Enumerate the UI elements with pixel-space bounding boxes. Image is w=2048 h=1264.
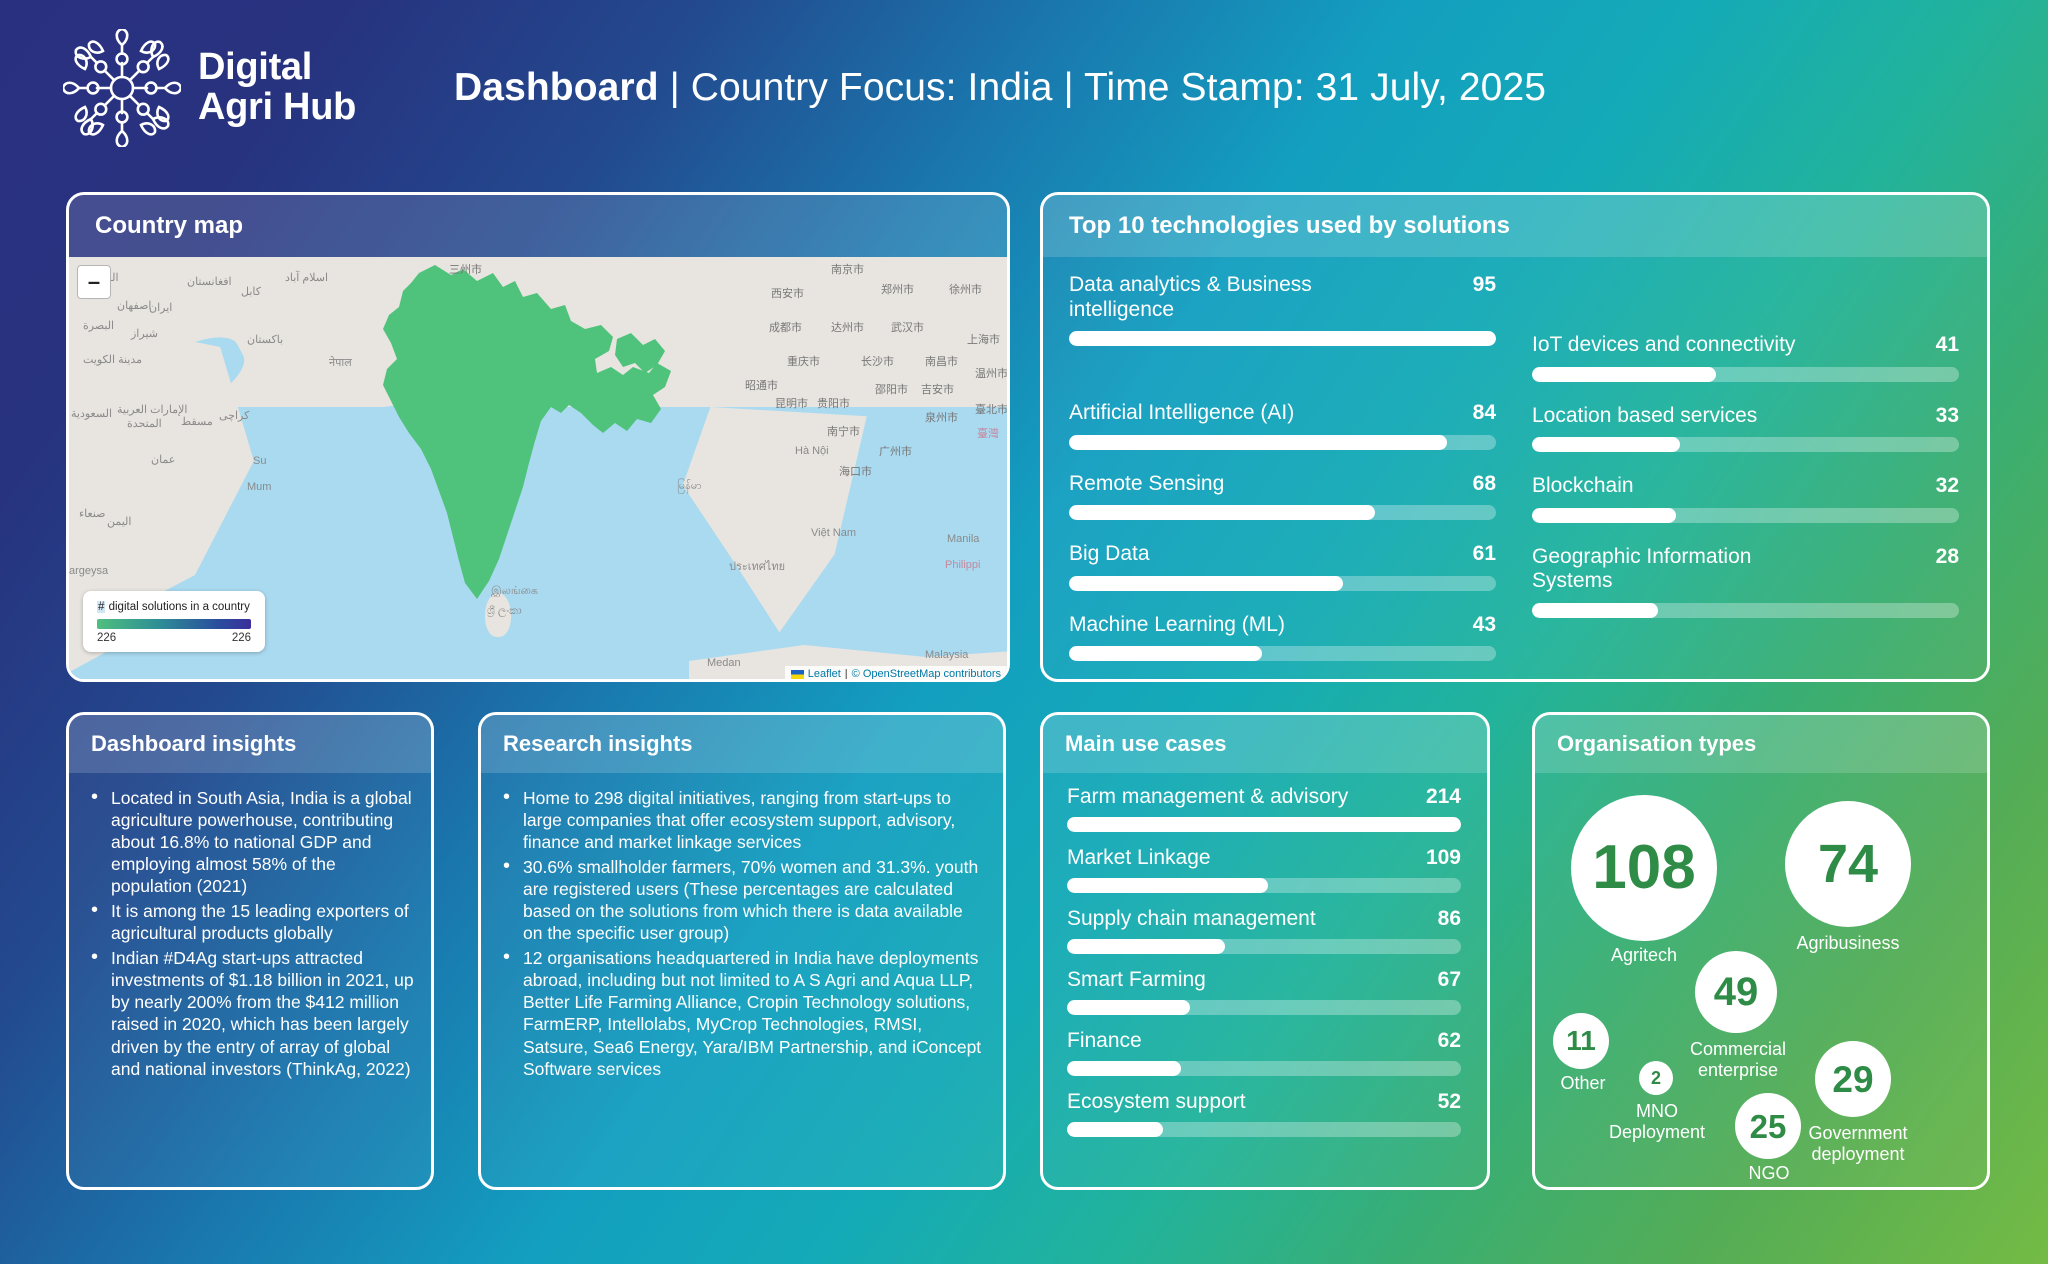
attribution-separator: | [845,668,848,680]
use-case-bar-fill [1067,817,1461,832]
technologies-header: Top 10 technologies used by solutions [1043,195,1987,257]
insight-bullet: Located in South Asia, India is a global… [87,787,415,897]
research-insights-list: Home to 298 digital initiatives, ranging… [499,787,987,1080]
organisation-type-label: Government deployment [1785,1123,1931,1164]
use-case-row-header: Supply chain management86 [1067,907,1461,931]
technology-row-header: Machine Learning (ML)43 [1069,613,1496,638]
ukraine-flag-icon [791,670,804,679]
research-insights-body: Home to 298 digital initiatives, ranging… [481,773,1003,1187]
use-case-row: Farm management & advisory214 [1067,785,1461,832]
technology-bar-fill [1532,603,1658,618]
technology-label: Machine Learning (ML) [1069,613,1285,638]
technology-label: Blockchain [1532,474,1634,499]
technology-bar-track [1532,603,1959,618]
use-cases-body: Farm management & advisory214Market Link… [1043,773,1487,1187]
use-case-label: Supply chain management [1067,907,1316,931]
use-case-row-header: Ecosystem support52 [1067,1090,1461,1114]
use-case-row-header: Farm management & advisory214 [1067,785,1461,809]
technology-bar-track [1069,646,1496,661]
use-case-row-header: Smart Farming67 [1067,968,1461,992]
use-case-value: 109 [1426,846,1461,870]
technology-label: Data analytics & Business intelligence [1069,273,1369,322]
map-zoom-out-button[interactable]: – [77,265,111,299]
organisation-types-panel: Organisation types 108Agritech74Agribusi… [1532,712,1990,1190]
technologies-column-left: Data analytics & Business intelligence95… [1069,273,1496,682]
use-case-label: Farm management & advisory [1067,785,1348,809]
organisation-type-bubble[interactable]: 29 [1815,1041,1891,1117]
technology-bar-fill [1532,437,1680,452]
technology-bar-track [1069,576,1496,591]
organisation-type-bubble[interactable]: 25 [1735,1093,1801,1159]
organisation-type-label: Agritech [1571,945,1717,966]
page-header: Digital Agri Hub Dashboard | Country Foc… [0,0,2048,176]
dashboard-insights-list: Located in South Asia, India is a global… [87,787,415,1080]
technology-value: 41 [1936,333,1959,358]
insight-bullet: Home to 298 digital initiatives, ranging… [499,787,987,853]
technology-bar-track [1532,437,1959,452]
map-attribution: Leaflet | © OpenStreetMap contributors [785,666,1007,682]
technology-value: 61 [1473,542,1496,567]
technology-value: 43 [1473,613,1496,638]
organisation-type-label: Agribusiness [1763,933,1933,954]
openstreetmap-link[interactable]: © OpenStreetMap contributors [852,668,1001,680]
technology-value: 28 [1936,545,1959,570]
organisation-type-bubble[interactable]: 74 [1785,801,1911,927]
technology-row: Geographic Information Systems28 [1532,545,1959,618]
technology-bar-fill [1069,576,1343,591]
india-highlight-shape[interactable] [365,263,725,611]
technology-row: Location based services33 [1532,404,1959,453]
technologies-panel: Top 10 technologies used by solutions Da… [1040,192,1990,682]
organisation-type-label: MNO Deployment [1601,1101,1713,1142]
technology-bar-fill [1532,508,1676,523]
technology-row-header: Data analytics & Business intelligence95 [1069,273,1496,322]
map-legend: # digital solutions in a country 226 226 [83,591,265,652]
technology-bar-track [1069,505,1496,520]
digital-agri-hub-logo-icon [62,28,182,148]
organisation-types-title: Organisation types [1557,731,1756,757]
map-legend-title: # digital solutions in a country [97,601,251,613]
dashboard-insights-title: Dashboard insights [91,731,296,757]
country-map-header: Country map [69,195,1007,257]
technology-row: Machine Learning (ML)43 [1069,613,1496,662]
organisation-type-label: Other [1545,1073,1621,1094]
technology-row: IoT devices and connectivity41 [1532,333,1959,382]
technology-row-header: IoT devices and connectivity41 [1532,333,1959,358]
research-insights-header: Research insights [481,715,1003,773]
organisation-type-bubble[interactable]: 108 [1571,795,1717,941]
technology-row: Remote Sensing68 [1069,472,1496,521]
technology-label: Remote Sensing [1069,472,1224,497]
use-case-row: Smart Farming67 [1067,968,1461,1015]
use-case-row: Supply chain management86 [1067,907,1461,954]
technologies-body: Data analytics & Business intelligence95… [1043,257,1987,682]
use-case-bar-track [1067,817,1461,832]
leaflet-link[interactable]: Leaflet [808,668,841,680]
technology-value: 68 [1473,472,1496,497]
technology-row: Big Data61 [1069,542,1496,591]
technology-row-header: Geographic Information Systems28 [1532,545,1959,594]
technology-row: Data analytics & Business intelligence95 [1069,273,1496,379]
technologies-column-spacer [1532,273,1959,333]
use-case-label: Finance [1067,1029,1142,1053]
technology-bar-fill [1532,367,1716,382]
map-legend-title-text: digital solutions in a country [105,601,249,613]
insight-bullet: 30.6% smallholder farmers, 70% women and… [499,856,987,944]
technology-bar-track [1532,367,1959,382]
insight-bullet: Indian #D4Ag start-ups attracted investm… [87,947,415,1079]
use-case-value: 86 [1438,907,1461,931]
dashboard-insights-body: Located in South Asia, India is a global… [69,773,431,1187]
technology-label: Location based services [1532,404,1757,429]
page-title: Dashboard | Country Focus: India | Time … [454,66,1546,110]
technologies-title: Top 10 technologies used by solutions [1069,212,1510,240]
use-case-value: 52 [1438,1090,1461,1114]
use-cases-panel: Main use cases Farm management & advisor… [1040,712,1490,1190]
use-case-bar-fill [1067,1000,1190,1015]
use-cases-title: Main use cases [1065,731,1226,757]
map-legend-gradient-bar [97,619,251,629]
technology-bar-fill [1069,331,1496,346]
use-case-label: Ecosystem support [1067,1090,1246,1114]
technologies-column-right: IoT devices and connectivity41Location b… [1532,273,1959,682]
technology-value: 95 [1473,273,1496,298]
use-case-value: 62 [1438,1029,1461,1053]
use-case-bar-fill [1067,939,1225,954]
technology-bar-fill [1069,646,1262,661]
use-case-row-header: Finance62 [1067,1029,1461,1053]
technology-bar-track [1069,435,1496,450]
technology-label: Geographic Information Systems [1532,545,1832,594]
map-legend-scale: 226 226 [97,632,251,644]
page-title-main: Dashboard [454,66,659,109]
country-map-body[interactable]: السليل افغانستان كابل اسلام آباد اصفهان … [69,257,1007,682]
use-case-bar-track [1067,878,1461,893]
technology-row: Blockchain32 [1532,474,1959,523]
technology-label: Big Data [1069,542,1150,567]
organisation-type-bubble[interactable]: 49 [1695,951,1777,1033]
use-case-bar-fill [1067,1061,1181,1076]
use-case-label: Smart Farming [1067,968,1206,992]
map-legend-min: 226 [97,632,116,644]
map-canvas[interactable]: السليل افغانستان كابل اسلام آباد اصفهان … [69,257,1007,682]
technology-row-header: Big Data61 [1069,542,1496,567]
organisation-type-label: NGO [1717,1163,1821,1184]
technology-value: 84 [1473,401,1496,426]
insight-bullet: It is among the 15 leading exporters of … [87,900,415,944]
research-insights-title: Research insights [503,731,693,757]
use-case-bar-track [1067,939,1461,954]
use-case-label: Market Linkage [1067,846,1211,870]
use-case-row-header: Market Linkage109 [1067,846,1461,870]
use-case-value: 214 [1426,785,1461,809]
technology-bar-track [1532,508,1959,523]
organisation-type-bubble[interactable]: 2 [1639,1061,1673,1095]
technology-value: 32 [1936,474,1959,499]
brand-line-1: Digital [198,48,356,88]
technology-row-header: Remote Sensing68 [1069,472,1496,497]
brand-wordmark: Digital Agri Hub [198,48,356,128]
use-case-bar-track [1067,1061,1461,1076]
use-case-bar-fill [1067,878,1268,893]
use-case-bar-track [1067,1000,1461,1015]
page-title-rest: | Country Focus: India | Time Stamp: 31 … [659,66,1546,109]
technology-bar-fill [1069,435,1447,450]
country-map-panel: Country map السليل افغانستان ك [66,192,1010,682]
use-case-row: Ecosystem support52 [1067,1090,1461,1137]
technology-row-header: Blockchain32 [1532,474,1959,499]
map-legend-max: 226 [232,632,251,644]
technology-bar-track [1069,331,1496,346]
technology-bar-fill [1069,505,1375,520]
use-cases-header: Main use cases [1043,715,1487,773]
organisation-type-label: Commercial enterprise [1665,1039,1811,1080]
use-case-bar-track [1067,1122,1461,1137]
technology-label: Artificial Intelligence (AI) [1069,401,1294,426]
organisation-types-header: Organisation types [1535,715,1987,773]
technology-row-header: Artificial Intelligence (AI)84 [1069,401,1496,426]
technology-row: Artificial Intelligence (AI)84 [1069,401,1496,450]
organisation-type-bubble[interactable]: 11 [1553,1013,1609,1069]
insight-bullet: 12 organisations headquartered in India … [499,947,987,1079]
technology-label: IoT devices and connectivity [1532,333,1795,358]
dashboard-insights-header: Dashboard insights [69,715,431,773]
brand-line-2: Agri Hub [198,88,356,128]
research-insights-panel: Research insights Home to 298 digital in… [478,712,1006,1190]
use-case-row: Market Linkage109 [1067,846,1461,893]
organisation-types-body: 108Agritech74Agribusiness49Commercial en… [1535,773,1987,1187]
use-case-bar-fill [1067,1122,1163,1137]
country-map-title: Country map [95,212,243,240]
technology-value: 33 [1936,404,1959,429]
use-case-value: 67 [1438,968,1461,992]
technology-row-header: Location based services33 [1532,404,1959,429]
dashboard-insights-panel: Dashboard insights Located in South Asia… [66,712,434,1190]
use-case-row: Finance62 [1067,1029,1461,1076]
